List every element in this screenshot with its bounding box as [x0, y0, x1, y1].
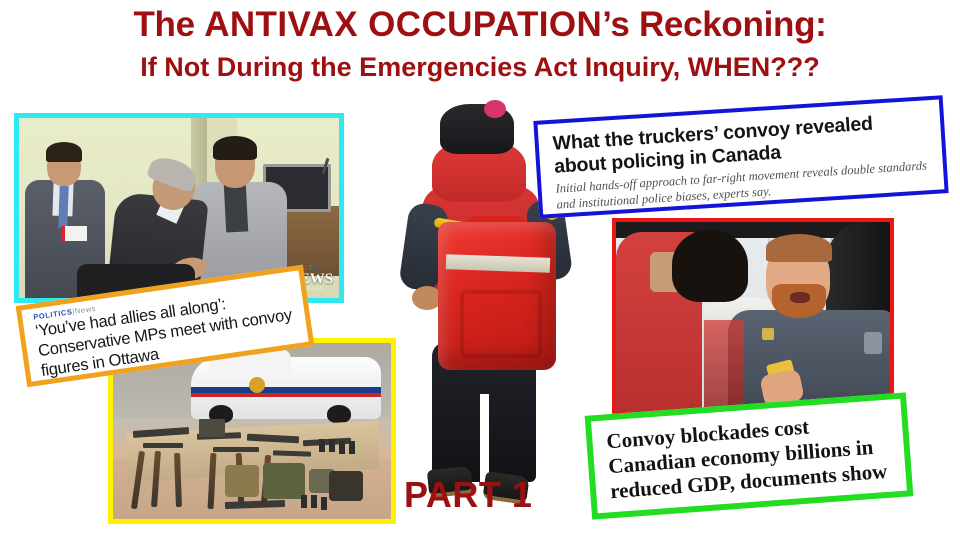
magazine [321, 497, 327, 510]
title-prefix: The [133, 5, 204, 44]
figure-leg-gap [480, 394, 489, 482]
person-left-hair [46, 142, 82, 162]
officer-hair [766, 234, 832, 262]
part-label: PART 1 [404, 474, 532, 516]
officer-badge-icon [762, 328, 774, 340]
figure-pompom [484, 100, 506, 118]
title-suffix: ’s Reckoning: [602, 5, 826, 44]
weapons-scene [113, 343, 391, 519]
person-right-hair [213, 136, 257, 160]
title-block: The ANTIVAX OCCUPATION’s Reckoning: If N… [0, 6, 960, 82]
cruiser-wheel-rear [327, 405, 351, 423]
page-title: The ANTIVAX OCCUPATION’s Reckoning: [0, 6, 960, 44]
jerry-can-emboss [460, 290, 542, 358]
ammo-crate [329, 471, 363, 501]
magazine [349, 441, 355, 454]
officer-mouth [790, 292, 810, 303]
magazine [329, 439, 335, 452]
cruiser-stripe-red [191, 393, 381, 397]
magazine [301, 495, 307, 508]
magazine [339, 441, 345, 454]
clipping-gdp-headline: Convoy blockades cost Canadian economy b… [606, 408, 897, 503]
officer-scene [616, 222, 890, 412]
person-right-shirt [224, 183, 248, 232]
magazine [311, 495, 317, 508]
magazine [319, 439, 325, 452]
title-emphasis: ANTIVAX OCCUPATION [204, 5, 602, 44]
rcmp-crest-icon [249, 377, 265, 393]
tactical-vest [225, 465, 259, 497]
page-subtitle: If Not During the Emergencies Act Inquir… [0, 53, 960, 83]
bystander-hair [672, 230, 748, 302]
officer-shoulder-patch [864, 332, 882, 354]
person-left-badge [61, 226, 87, 241]
door-glass [704, 320, 744, 412]
person-left-tie [58, 186, 68, 228]
optics-case [199, 419, 225, 437]
clipping-policing: What the truckers’ convoy revealed about… [533, 95, 948, 219]
firearm [213, 447, 259, 452]
firearm [143, 443, 183, 448]
photo-police-officer [612, 218, 894, 416]
tactical-vest [263, 463, 305, 499]
clipping-gdp: Convoy blockades cost Canadian economy b… [585, 392, 914, 519]
